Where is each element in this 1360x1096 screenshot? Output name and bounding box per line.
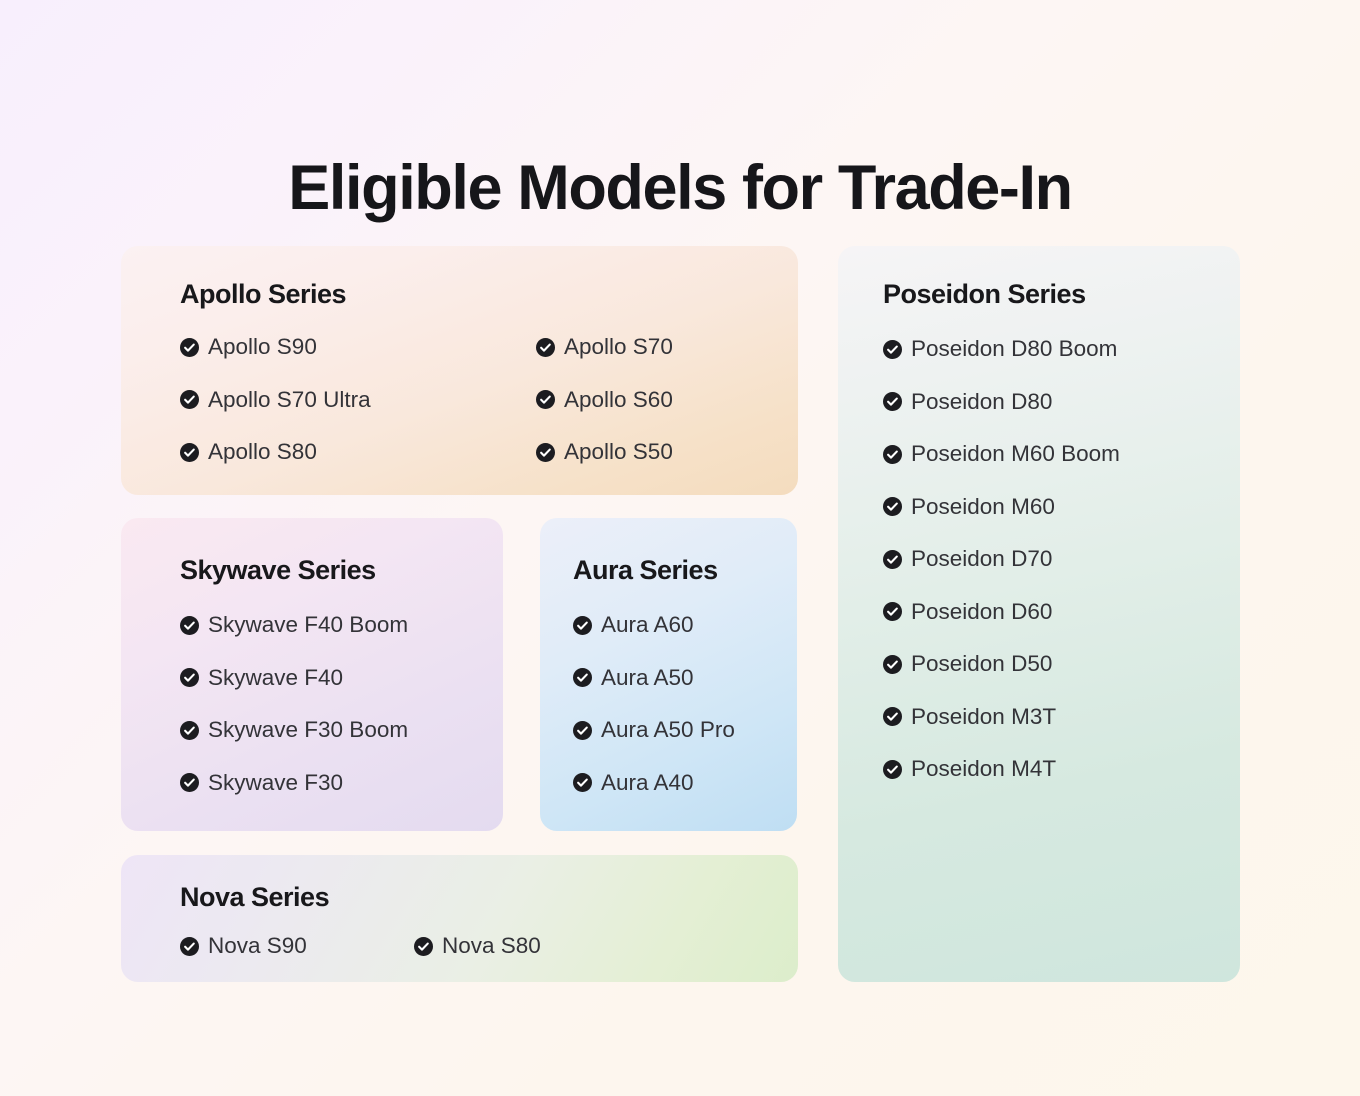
model-item: Apollo S60	[536, 389, 780, 412]
model-item: Aura A50 Pro	[573, 719, 735, 742]
model-name: Skywave F40 Boom	[208, 614, 408, 637]
check-circle-icon	[883, 340, 902, 359]
check-circle-icon	[180, 937, 199, 956]
model-name: Apollo S70 Ultra	[208, 389, 371, 412]
model-name: Aura A40	[601, 772, 694, 795]
check-circle-icon	[883, 550, 902, 569]
check-circle-icon	[883, 392, 902, 411]
poseidon-series-title: Poseidon Series	[883, 280, 1086, 310]
check-circle-icon	[883, 707, 902, 726]
check-circle-icon	[573, 773, 592, 792]
skywave-series-title: Skywave Series	[180, 556, 376, 586]
model-item: Nova S90	[180, 935, 414, 958]
model-name: Aura A50	[601, 667, 694, 690]
model-name: Poseidon D50	[911, 653, 1052, 676]
check-circle-icon	[536, 338, 555, 357]
model-item: Skywave F40 Boom	[180, 614, 408, 637]
model-name: Apollo S60	[564, 389, 673, 412]
model-item: Apollo S90	[180, 336, 536, 359]
model-item: Poseidon M3T	[883, 706, 1120, 729]
model-item: Apollo S70 Ultra	[180, 389, 536, 412]
model-name: Apollo S80	[208, 441, 317, 464]
check-circle-icon	[573, 721, 592, 740]
check-circle-icon	[573, 616, 592, 635]
poseidon-series-card: Poseidon Series Poseidon D80 Boom Poseid…	[838, 246, 1240, 982]
model-item: Poseidon M60	[883, 496, 1120, 519]
model-name: Poseidon D80 Boom	[911, 338, 1117, 361]
trade-in-eligible-models-page: Eligible Models for Trade-In Apollo Seri…	[0, 0, 1360, 1096]
check-circle-icon	[573, 668, 592, 687]
model-name: Apollo S90	[208, 336, 317, 359]
model-item: Apollo S80	[180, 441, 536, 464]
check-circle-icon	[180, 443, 199, 462]
model-name: Apollo S50	[564, 441, 673, 464]
skywave-model-list: Skywave F40 Boom Skywave F40 Skywave F30…	[180, 614, 408, 794]
model-item: Nova S80	[414, 935, 541, 958]
model-item: Apollo S70	[536, 336, 780, 359]
model-name: Poseidon M4T	[911, 758, 1056, 781]
check-circle-icon	[883, 497, 902, 516]
model-name: Poseidon M3T	[911, 706, 1056, 729]
model-item: Poseidon D50	[883, 653, 1120, 676]
check-circle-icon	[180, 773, 199, 792]
model-name: Poseidon D80	[911, 391, 1052, 414]
model-name: Nova S80	[442, 935, 541, 958]
model-name: Skywave F30	[208, 772, 343, 795]
skywave-series-card: Skywave Series Skywave F40 Boom Skywave …	[121, 518, 503, 831]
check-circle-icon	[883, 602, 902, 621]
model-name: Skywave F30 Boom	[208, 719, 408, 742]
check-circle-icon	[180, 390, 199, 409]
page-title: Eligible Models for Trade-In	[0, 154, 1360, 222]
check-circle-icon	[883, 445, 902, 464]
model-item: Skywave F30 Boom	[180, 719, 408, 742]
check-circle-icon	[180, 721, 199, 740]
model-item: Skywave F40	[180, 667, 408, 690]
apollo-model-list: Apollo S90 Apollo S70 Apollo S70 Ultra A…	[180, 336, 780, 464]
model-name: Apollo S70	[564, 336, 673, 359]
model-item: Poseidon D80 Boom	[883, 338, 1120, 361]
model-name: Poseidon M60	[911, 496, 1055, 519]
aura-series-card: Aura Series Aura A60 Aura A50 Aura A50 P…	[540, 518, 797, 831]
check-circle-icon	[180, 616, 199, 635]
model-item: Aura A60	[573, 614, 735, 637]
model-name: Poseidon M60 Boom	[911, 443, 1120, 466]
model-item: Aura A40	[573, 772, 735, 795]
model-name: Aura A60	[601, 614, 694, 637]
model-item: Aura A50	[573, 667, 735, 690]
nova-series-title: Nova Series	[180, 883, 329, 913]
check-circle-icon	[883, 760, 902, 779]
check-circle-icon	[883, 655, 902, 674]
aura-series-title: Aura Series	[573, 556, 718, 586]
aura-model-list: Aura A60 Aura A50 Aura A50 Pro Aura A40	[573, 614, 735, 794]
model-name: Poseidon D60	[911, 601, 1052, 624]
model-name: Skywave F40	[208, 667, 343, 690]
nova-model-list: Nova S90 Nova S80	[180, 935, 541, 958]
check-circle-icon	[536, 443, 555, 462]
check-circle-icon	[536, 390, 555, 409]
check-circle-icon	[414, 937, 433, 956]
check-circle-icon	[180, 338, 199, 357]
model-name: Nova S90	[208, 935, 307, 958]
nova-series-card: Nova Series Nova S90 Nova S80	[121, 855, 798, 982]
model-name: Aura A50 Pro	[601, 719, 735, 742]
apollo-series-title: Apollo Series	[180, 280, 346, 310]
model-item: Skywave F30	[180, 772, 408, 795]
poseidon-model-list: Poseidon D80 Boom Poseidon D80 Poseidon …	[883, 338, 1120, 781]
model-name: Poseidon D70	[911, 548, 1052, 571]
model-item: Apollo S50	[536, 441, 780, 464]
model-item: Poseidon M60 Boom	[883, 443, 1120, 466]
apollo-series-card: Apollo Series Apollo S90 Apollo S70 Apol…	[121, 246, 798, 495]
model-item: Poseidon M4T	[883, 758, 1120, 781]
model-item: Poseidon D60	[883, 601, 1120, 624]
model-item: Poseidon D70	[883, 548, 1120, 571]
model-item: Poseidon D80	[883, 391, 1120, 414]
check-circle-icon	[180, 668, 199, 687]
